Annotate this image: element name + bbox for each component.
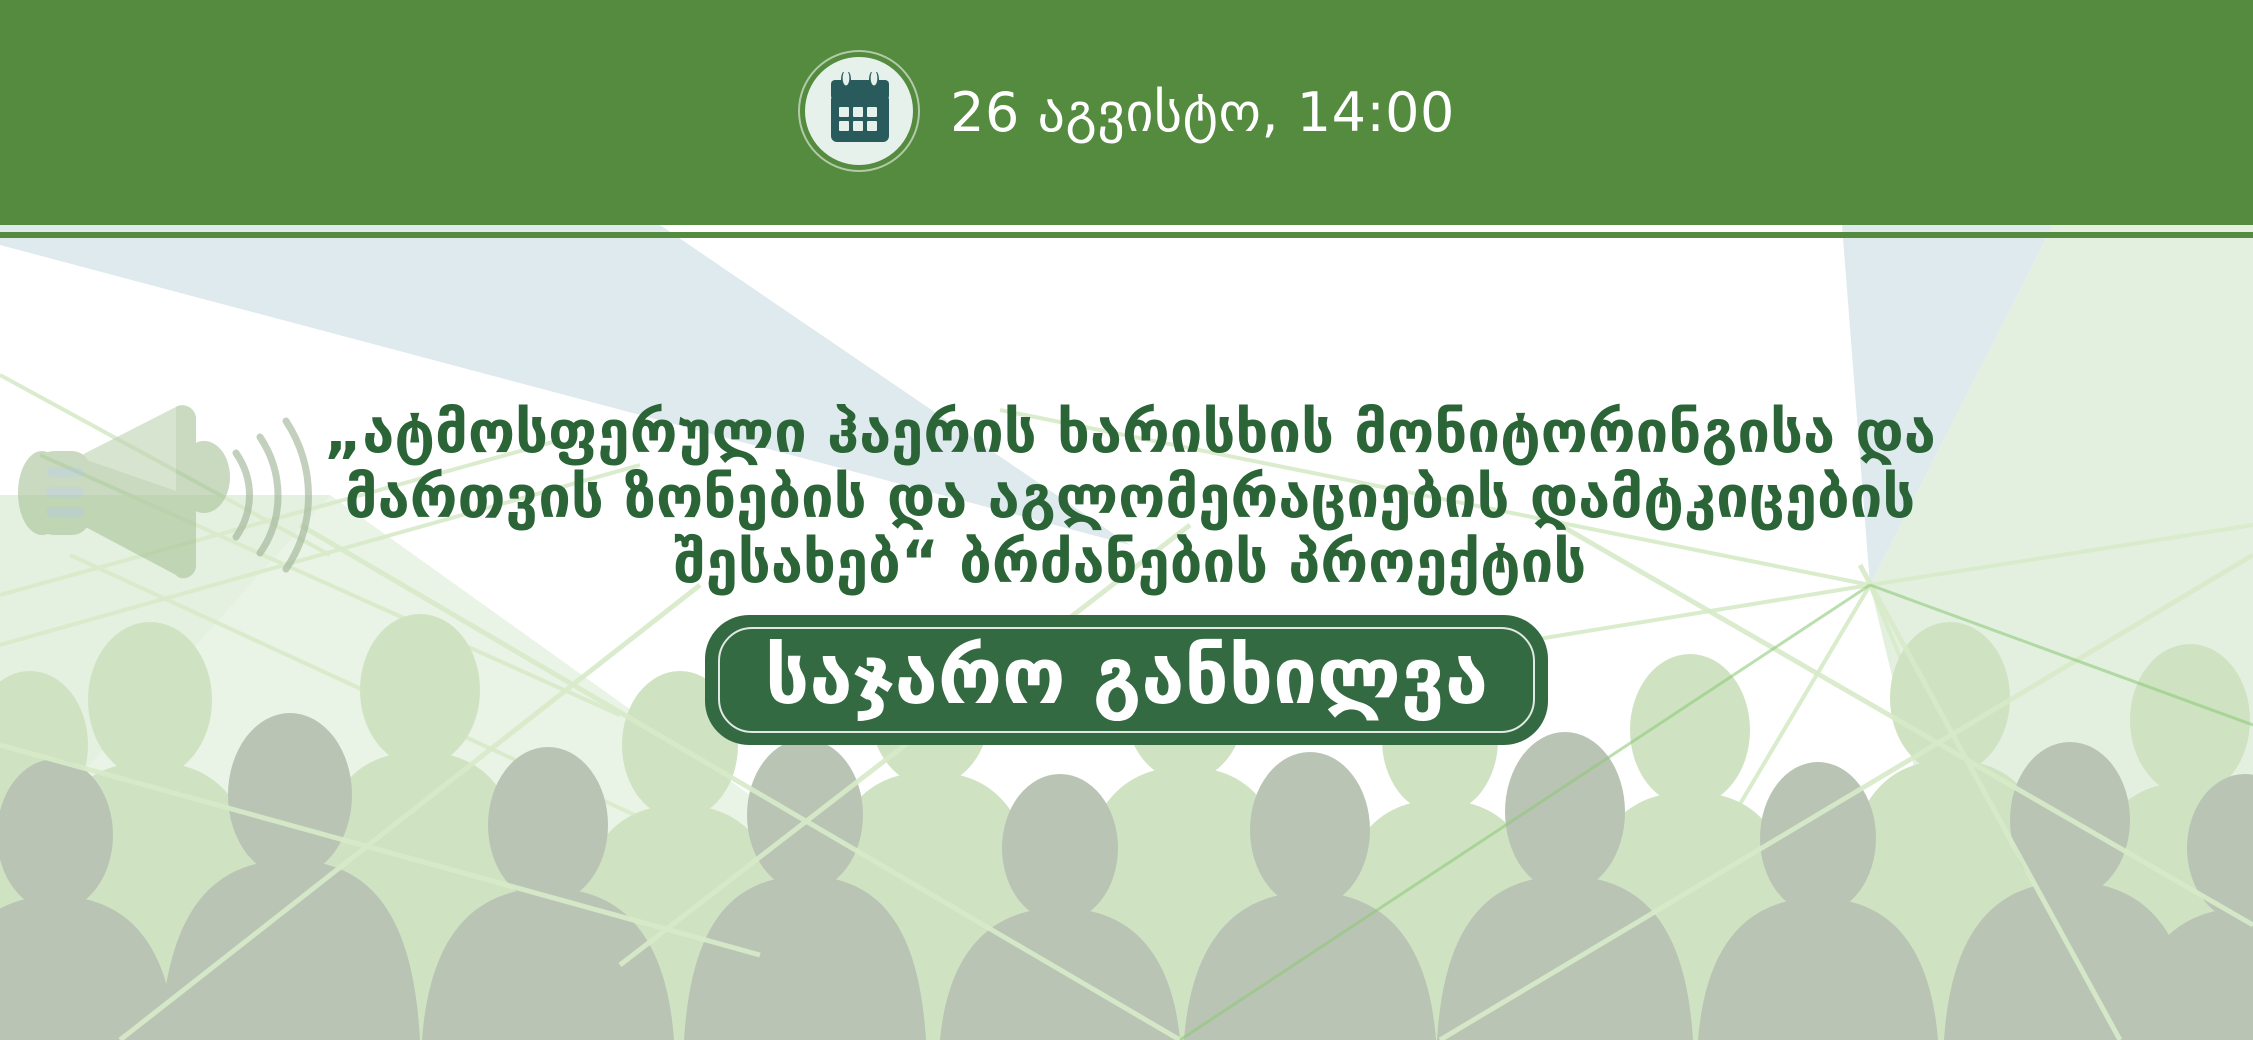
event-date-text: 26 აგვისტო, 14:00 [950, 86, 1455, 140]
public-discussion-button[interactable]: საჯარო განხილვა [705, 615, 1548, 745]
title-line-3: შესახებ“ ბრძანების პროექტის [300, 530, 1960, 595]
title-line-1: „ატმოსფერული ჰაერის ხარისხის მონიტორინგი… [300, 400, 1960, 465]
calendar-badge [798, 50, 924, 176]
title-line-2: მართვის ზონების და აგლომერაციების დამტკი… [300, 465, 1960, 530]
header-divider-rule [0, 232, 2253, 238]
header-date-bar: 26 აგვისტო, 14:00 [0, 0, 2253, 225]
announcement-title: „ატმოსფერული ჰაერის ხარისხის მონიტორინგი… [300, 400, 1960, 595]
megaphone-glyph [8, 395, 328, 595]
calendar-icon [823, 72, 897, 150]
public-discussion-label: საჯარო განხილვა [765, 637, 1488, 719]
megaphone-icon [8, 395, 328, 595]
event-announcement-banner: 26 აგვისტო, 14:00 „ატმოსფერული ჰაერის ხა… [0, 0, 2253, 1040]
